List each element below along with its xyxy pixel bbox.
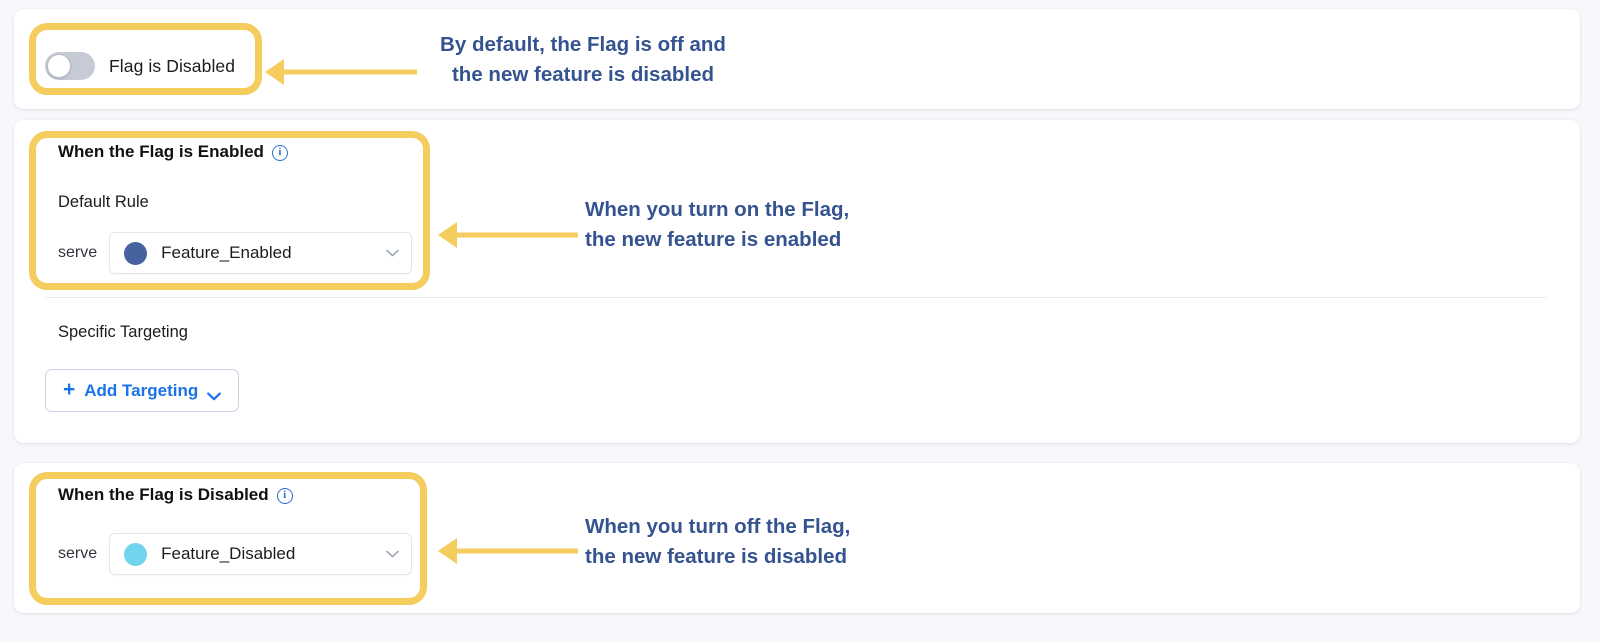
annotation-line-1: When you turn on the Flag, [585, 195, 849, 225]
info-icon[interactable]: i [272, 145, 288, 161]
annotation-arrow-1 [265, 59, 417, 85]
serve-label: serve [58, 244, 97, 262]
plus-icon: + [63, 379, 75, 400]
arrow-shaft [455, 233, 578, 238]
annotation-arrow-2 [438, 222, 578, 248]
chevron-down-icon[interactable] [386, 249, 399, 257]
enabled-heading-text: When the Flag is Enabled [58, 142, 264, 162]
annotation-turn-on: When you turn on the Flag, the new featu… [585, 195, 849, 255]
flag-toggle-row[interactable]: Flag is Disabled [45, 52, 235, 80]
disabled-heading-text: When the Flag is Disabled [58, 485, 269, 505]
annotation-line-2: the new feature is enabled [585, 225, 849, 255]
annotation-line-2: the new feature is disabled [418, 60, 748, 90]
screenshot-root: Flag is Disabled When the Flag is Enable… [0, 0, 1600, 642]
default-rule-serve-row: serve Feature_Enabled [58, 232, 412, 274]
disabled-section-heading: When the Flag is Disabled i [58, 485, 293, 505]
info-icon[interactable]: i [277, 488, 293, 504]
annotation-default-off: By default, the Flag is off and the new … [418, 30, 748, 90]
add-targeting-button[interactable]: + Add Targeting [45, 369, 239, 412]
variation-color-dot [124, 543, 147, 566]
annotation-line-1: When you turn off the Flag, [585, 512, 850, 542]
annotation-line-1: By default, the Flag is off and [418, 30, 748, 60]
flag-enabled-panel: When the Flag is Enabled i Default Rule … [14, 120, 1580, 443]
section-divider [45, 297, 1547, 298]
disabled-variation-select[interactable]: Feature_Disabled [109, 533, 412, 575]
annotation-line-2: the new feature is disabled [585, 542, 850, 572]
annotation-turn-off: When you turn off the Flag, the new feat… [585, 512, 850, 572]
disabled-variation-value: Feature_Disabled [161, 544, 372, 564]
serve-label: serve [58, 545, 97, 563]
arrow-shaft [455, 549, 578, 554]
flag-toggle-switch[interactable] [45, 52, 95, 80]
arrow-shaft [282, 70, 417, 75]
default-rule-label: Default Rule [58, 193, 149, 212]
chevron-down-icon[interactable] [386, 550, 399, 558]
enabled-variation-select[interactable]: Feature_Enabled [109, 232, 412, 274]
specific-targeting-label: Specific Targeting [58, 323, 188, 342]
enabled-variation-value: Feature_Enabled [161, 243, 372, 263]
flag-toggle-label: Flag is Disabled [109, 56, 235, 77]
flag-toggle-panel: Flag is Disabled [14, 9, 1580, 109]
toggle-knob [47, 54, 71, 78]
enabled-section-heading: When the Flag is Enabled i [58, 142, 288, 162]
add-targeting-label: Add Targeting [84, 381, 198, 401]
disabled-serve-row: serve Feature_Disabled [58, 533, 412, 575]
annotation-arrow-3 [438, 538, 578, 564]
chevron-down-icon[interactable] [207, 386, 221, 395]
variation-color-dot [124, 242, 147, 265]
